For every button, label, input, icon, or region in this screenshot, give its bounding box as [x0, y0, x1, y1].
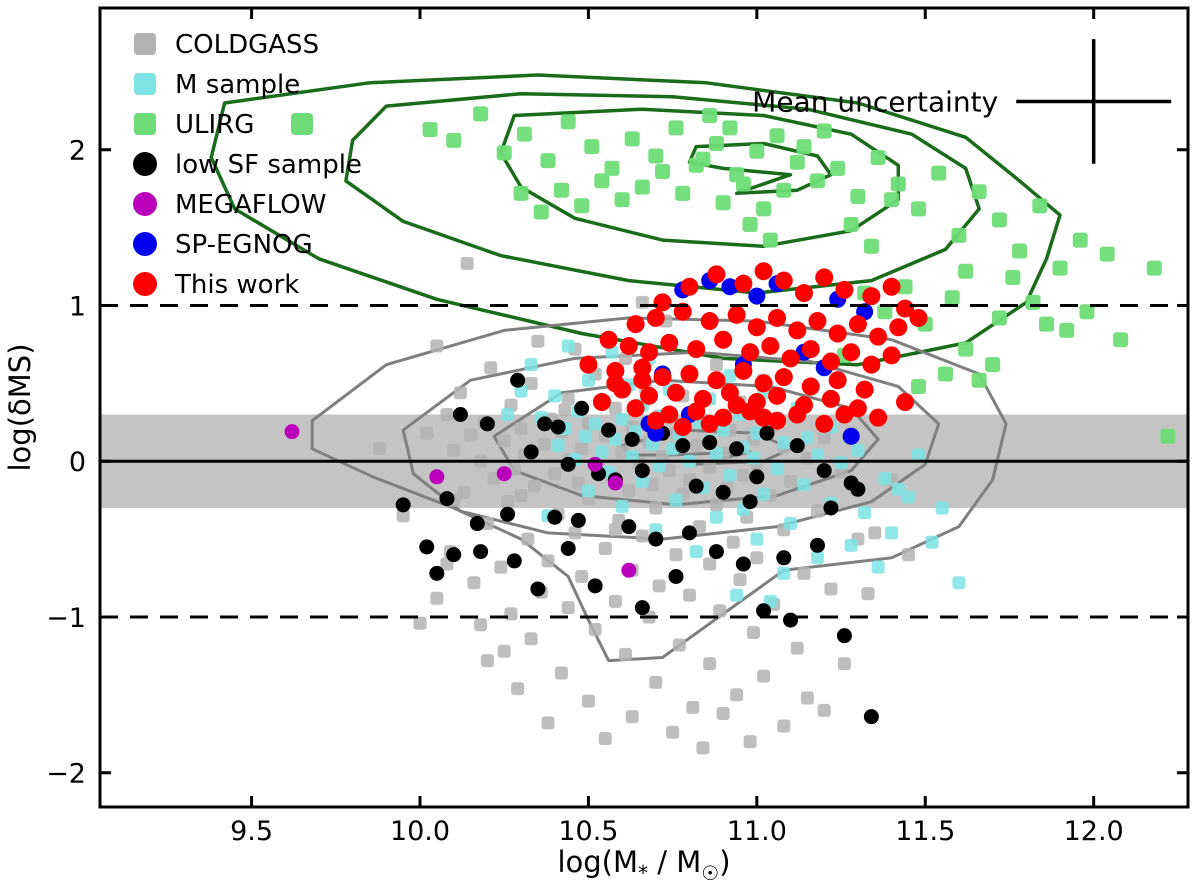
data-point: [439, 491, 454, 506]
xtick-label-4: 11.5: [895, 816, 955, 847]
data-point: [542, 554, 555, 567]
data-point: [788, 406, 806, 424]
data-point: [669, 120, 684, 135]
data-point: [701, 415, 719, 433]
data-point: [615, 192, 630, 207]
data-point: [896, 393, 914, 411]
data-point: [716, 195, 731, 210]
data-point: [771, 463, 784, 476]
data-point: [627, 315, 645, 333]
data-point: [744, 735, 757, 748]
data-point: [648, 148, 663, 163]
data-point: [633, 371, 651, 389]
data-point: [822, 390, 840, 408]
data-point: [784, 517, 797, 530]
data-point: [958, 342, 973, 357]
legend-label: COLDGASS: [175, 30, 319, 60]
data-point: [822, 353, 840, 371]
data-point: [798, 567, 811, 580]
legend-label: ULIRG: [175, 110, 254, 140]
legend-label: This work: [174, 270, 299, 300]
data-point: [660, 334, 678, 352]
data-point: [1160, 429, 1175, 444]
data-point: [883, 278, 901, 296]
data-point: [429, 566, 444, 581]
data-point: [701, 312, 719, 330]
data-point: [474, 618, 487, 631]
legend-label: MEGAFLOW: [175, 190, 326, 220]
data-point: [862, 587, 875, 600]
data-point: [524, 444, 539, 459]
ytick-label-0: 2: [69, 136, 86, 167]
data-point: [722, 120, 737, 135]
data-point: [972, 373, 987, 388]
data-point: [797, 139, 812, 154]
data-point: [763, 233, 778, 248]
data-point: [414, 617, 427, 630]
data-point: [775, 272, 793, 290]
data-point: [723, 469, 736, 482]
data-point: [635, 600, 650, 615]
data-point: [1147, 261, 1162, 276]
data-point: [640, 387, 658, 405]
data-point: [552, 439, 565, 452]
data-point: [703, 657, 716, 670]
data-point: [666, 726, 679, 739]
data-point: [689, 479, 704, 494]
data-point: [430, 339, 443, 352]
data-point: [528, 480, 541, 493]
data-point: [912, 449, 925, 462]
data-point: [453, 407, 468, 422]
data-point: [801, 691, 814, 704]
data-point: [972, 184, 987, 199]
data-point: [551, 419, 566, 434]
data-point: [862, 356, 880, 374]
ytick-label-1: 1: [69, 291, 86, 322]
data-point: [850, 482, 865, 497]
data-point: [1059, 323, 1074, 338]
data-point: [902, 548, 915, 561]
data-point: [619, 648, 632, 661]
data-point: [582, 484, 595, 497]
data-point: [473, 106, 488, 121]
data-point: [498, 434, 511, 447]
data-point: [864, 239, 879, 254]
plot-canvas: Mean uncertainty9.510.010.511.011.512.02…: [0, 0, 1200, 884]
data-point: [589, 623, 602, 636]
data-point: [910, 309, 928, 327]
data-point: [571, 513, 586, 528]
data-point: [446, 547, 461, 562]
data-point: [568, 526, 581, 539]
data-point: [500, 507, 515, 522]
data-point: [777, 567, 790, 580]
data-point: [625, 131, 640, 146]
data-point: [871, 150, 886, 165]
data-point: [647, 309, 665, 327]
data-point: [727, 536, 740, 549]
data-point: [1039, 317, 1054, 332]
data-point: [770, 128, 785, 143]
data-point: [891, 176, 906, 191]
data-point: [626, 710, 639, 723]
data-point: [521, 533, 534, 546]
data-point: [868, 526, 881, 539]
data-point: [737, 469, 750, 482]
data-point: [461, 257, 474, 270]
data-point: [730, 589, 743, 602]
data-point: [810, 173, 825, 188]
data-point: [755, 409, 773, 427]
data-point: [654, 368, 672, 386]
data-point: [396, 497, 411, 512]
data-point: [931, 166, 946, 181]
data-point: [864, 709, 879, 724]
data-point: [829, 371, 847, 389]
data-point: [1073, 233, 1088, 248]
data-point: [497, 466, 512, 481]
data-point: [790, 155, 805, 170]
data-point: [802, 377, 820, 395]
data-point: [507, 553, 522, 568]
data-point: [669, 569, 684, 584]
data-point: [423, 122, 438, 137]
data-point: [562, 601, 575, 614]
data-point: [680, 365, 698, 383]
data-point: [1026, 295, 1041, 310]
data-point: [525, 632, 538, 645]
data-point: [561, 457, 576, 472]
data-point: [992, 310, 1007, 325]
data-point: [911, 201, 926, 216]
data-point: [484, 361, 497, 374]
data-point: [734, 275, 752, 293]
legend-marker: [133, 152, 157, 176]
x-axis-title: log(M* / M☉): [557, 845, 730, 884]
data-point: [743, 217, 758, 232]
data-point: [1053, 261, 1068, 276]
data-point: [687, 402, 705, 420]
data-point: [609, 595, 622, 608]
data-point: [636, 529, 649, 542]
legend-marker: [134, 73, 156, 95]
data-point: [517, 127, 532, 142]
data-point: [649, 676, 662, 689]
data-point: [869, 409, 887, 427]
data-point: [501, 408, 514, 421]
data-point: [548, 467, 561, 480]
data-point: [538, 438, 551, 451]
xtick-label-3: 11.0: [727, 816, 787, 847]
data-point: [842, 343, 860, 361]
data-point: [747, 626, 760, 639]
data-point: [748, 288, 765, 305]
data-point: [823, 500, 838, 515]
data-point: [561, 114, 576, 129]
data-point: [802, 340, 820, 358]
data-point: [835, 281, 853, 299]
ytick-label-4: −2: [46, 759, 86, 790]
data-point: [728, 306, 746, 324]
data-point: [673, 639, 686, 652]
data-point: [574, 401, 589, 416]
data-point: [992, 212, 1007, 227]
legend-label: low SF sample: [175, 150, 362, 180]
data-point: [892, 483, 905, 496]
data-point: [561, 541, 576, 556]
xtick-label-5: 12.0: [1064, 816, 1124, 847]
data-point: [616, 500, 629, 513]
data-point: [749, 469, 764, 484]
xtick-label-2: 10.5: [558, 816, 618, 847]
legend-marker-extra: [291, 113, 313, 135]
data-point: [464, 428, 477, 441]
data-point: [470, 516, 485, 531]
data-point: [824, 582, 837, 595]
data-point: [537, 416, 552, 431]
data-point: [621, 563, 636, 578]
data-point: [620, 337, 638, 355]
data-point: [501, 495, 514, 508]
data-point: [750, 533, 763, 546]
data-point: [562, 339, 575, 352]
data-point: [838, 657, 851, 670]
data-point: [843, 428, 860, 445]
data-point: [695, 152, 710, 167]
data-point: [588, 457, 603, 472]
data-point: [734, 573, 747, 586]
data-point: [589, 417, 602, 430]
data-point: [582, 695, 595, 708]
data-point: [775, 368, 793, 386]
data-point: [515, 489, 528, 502]
data-point: [958, 264, 973, 279]
data-point: [844, 217, 859, 232]
data-point: [830, 161, 845, 176]
data-point: [667, 384, 685, 402]
data-point: [599, 732, 612, 745]
data-point: [938, 367, 953, 382]
data-point: [675, 186, 690, 201]
data-point: [702, 108, 717, 123]
data-point: [525, 358, 538, 371]
data-point: [755, 374, 773, 392]
data-point: [850, 189, 865, 204]
legend-label: M sample: [175, 70, 300, 100]
data-point: [951, 228, 966, 243]
data-point: [788, 321, 806, 339]
data-point: [862, 287, 880, 305]
data-point: [548, 389, 561, 402]
data-point: [749, 144, 764, 159]
legend-marker: [133, 232, 157, 256]
data-point: [911, 379, 926, 394]
data-point: [748, 318, 766, 336]
data-point: [687, 340, 705, 358]
data-point: [680, 278, 698, 296]
data-point: [420, 427, 433, 440]
data-point: [531, 335, 544, 348]
data-point: [541, 153, 556, 168]
data-point: [817, 463, 832, 478]
data-point: [761, 337, 779, 355]
data-point: [675, 438, 690, 453]
legend-marker: [134, 113, 156, 135]
data-point: [554, 183, 569, 198]
data-point: [480, 416, 495, 431]
data-point: [609, 523, 622, 536]
data-point: [872, 561, 885, 574]
data-point: [811, 449, 824, 462]
data-point: [429, 469, 444, 484]
data-point: [547, 510, 562, 525]
data-point: [600, 331, 618, 349]
legend-marker: [133, 272, 157, 296]
data-point: [776, 550, 791, 565]
data-point: [515, 422, 528, 435]
data-point: [750, 551, 763, 564]
data-point: [736, 557, 751, 572]
data-point: [481, 654, 494, 667]
data-point: [811, 505, 824, 518]
data-point: [285, 424, 300, 439]
data-point: [440, 408, 453, 421]
data-point: [878, 472, 891, 485]
data-point: [419, 539, 434, 554]
data-point: [776, 183, 791, 198]
data-point: [690, 545, 703, 558]
data-point: [703, 558, 716, 571]
data-point: [530, 581, 545, 596]
data-point: [498, 645, 511, 658]
ytick-label-2: 0: [69, 447, 86, 478]
data-point: [696, 741, 709, 754]
data-point: [446, 133, 461, 148]
data-point: [883, 346, 901, 364]
data-point: [601, 423, 616, 438]
data-point: [574, 198, 589, 213]
data-point: [985, 357, 1000, 372]
data-point: [579, 430, 592, 443]
annotation-label-mean-uncertainty: Mean uncertainty: [752, 85, 998, 118]
data-point: [717, 707, 730, 720]
data-point: [777, 720, 790, 733]
y-axis-title: log(δMS): [3, 343, 37, 471]
data-point: [784, 475, 797, 488]
data-point: [869, 328, 887, 346]
data-point: [588, 578, 603, 593]
data-point: [756, 201, 771, 216]
data-point: [648, 532, 663, 547]
data-point: [736, 176, 751, 191]
data-point: [579, 356, 597, 374]
data-point: [768, 387, 786, 405]
data-point: [777, 436, 790, 449]
data-point: [709, 544, 724, 559]
data-point: [584, 139, 599, 154]
data-point: [710, 498, 723, 511]
data-point: [768, 309, 786, 327]
data-point: [670, 548, 683, 561]
data-point: [542, 716, 555, 729]
data-point: [593, 393, 611, 411]
data-point: [555, 667, 568, 680]
data-point: [674, 418, 692, 436]
data-point: [741, 343, 759, 361]
data-point: [582, 374, 595, 387]
data-point: [1012, 243, 1027, 258]
data-point: [710, 358, 723, 371]
data-point: [703, 461, 716, 474]
data-point: [885, 526, 898, 539]
data-point: [454, 386, 467, 399]
data-point: [511, 682, 524, 695]
legend-marker: [133, 192, 157, 216]
data-point: [889, 318, 907, 336]
data-point: [884, 192, 899, 207]
data-point: [702, 435, 717, 450]
data-point: [743, 494, 758, 509]
data-point: [510, 373, 525, 388]
data-point: [447, 444, 460, 457]
data-point: [647, 412, 665, 430]
data-point: [716, 485, 731, 500]
data-point: [599, 542, 612, 555]
data-point: [815, 415, 833, 433]
data-point: [808, 312, 826, 330]
data-point: [851, 444, 864, 457]
legend-label: SP-EGNOG: [175, 230, 313, 260]
data-point: [608, 476, 623, 491]
data-point: [558, 403, 571, 416]
data-point: [856, 381, 874, 399]
data-point: [625, 432, 640, 447]
data-point: [1100, 247, 1115, 262]
xtick-label-1: 10.0: [390, 816, 450, 847]
data-point: [594, 173, 609, 188]
data-point: [730, 688, 743, 701]
data-point: [1113, 332, 1128, 347]
data-point: [713, 604, 726, 617]
data-point: [682, 525, 697, 540]
data-point: [936, 501, 949, 514]
data-point: [714, 331, 732, 349]
data-point: [635, 180, 650, 195]
data-point: [494, 561, 507, 574]
data-point: [621, 519, 636, 534]
data-point: [952, 576, 965, 589]
data-point: [783, 613, 798, 628]
data-point: [649, 501, 662, 514]
data-point: [849, 315, 867, 333]
data-point: [798, 478, 811, 491]
data-point: [690, 439, 703, 452]
data-point: [707, 371, 725, 389]
data-point: [595, 445, 608, 458]
data-point: [795, 284, 813, 302]
data-point: [791, 642, 804, 655]
data-point: [606, 374, 624, 392]
data-point: [710, 511, 723, 524]
data-point: [835, 406, 853, 424]
data-point: [945, 290, 960, 305]
data-point: [686, 701, 699, 714]
data-point: [709, 136, 724, 151]
ytick-label-3: −1: [46, 603, 86, 634]
data-point: [627, 399, 645, 417]
data-point: [373, 442, 386, 455]
